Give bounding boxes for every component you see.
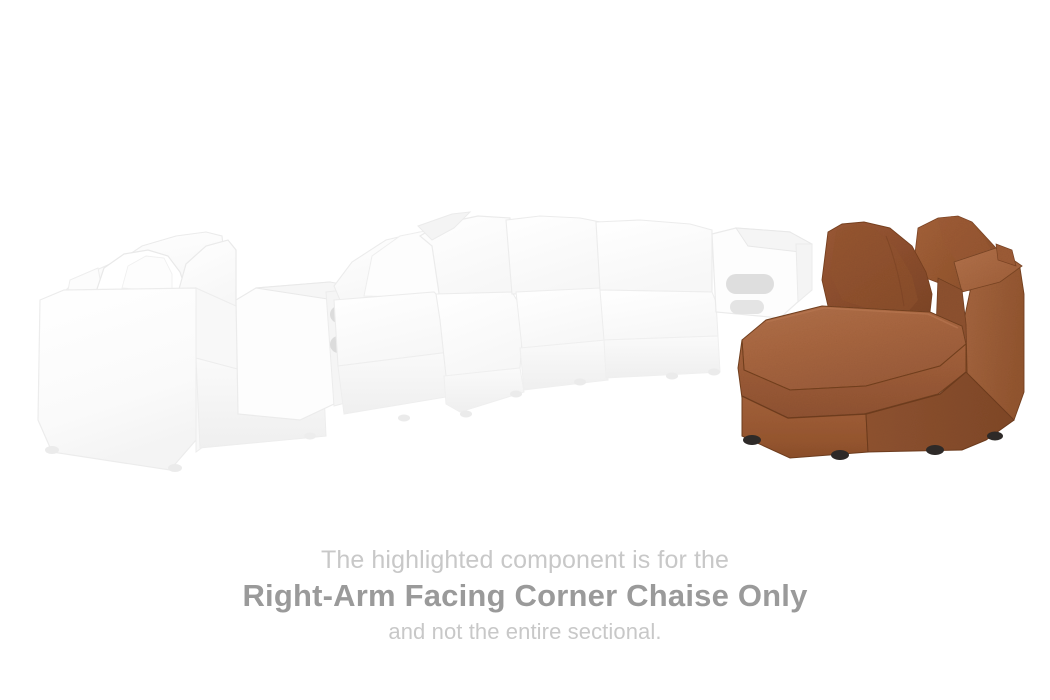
caption-line-2-component-name: Right-Arm Facing Corner Chaise Only (0, 575, 1050, 617)
ghost-base-corner (444, 368, 524, 412)
caption-block: The highlighted component is for the Rig… (0, 545, 1050, 647)
ghost-console-side-right (796, 244, 812, 302)
ghost-foot (398, 415, 410, 422)
ghost-seat-cushion-armless-right (600, 290, 718, 340)
caption-line-1: The highlighted component is for the (0, 545, 1050, 575)
ghost-sectional-group (38, 212, 812, 472)
ghost-foot (45, 446, 59, 454)
caption-line-3: and not the entire sectional. (0, 617, 1050, 647)
sectional-illustration-svg (0, 0, 1050, 520)
ghost-module-console-right (712, 228, 812, 318)
ghost-module-armless-mid (506, 216, 608, 390)
product-highlight-page: The highlighted component is for the Rig… (0, 0, 1050, 700)
ghost-back-cushion-armless-right (596, 220, 712, 292)
ghost-foot (574, 379, 586, 386)
chaise-back-cushion-shade (830, 224, 918, 312)
cup-holder-icon (730, 300, 764, 314)
ghost-seat-cushion-armless-mid (516, 288, 606, 348)
ghost-arm-left (38, 288, 200, 470)
ghost-foot (304, 433, 316, 440)
cup-holder-icon (726, 274, 774, 294)
ghost-back-cushion-armless-mid (506, 216, 600, 294)
chaise-back-cushion-group (822, 222, 932, 320)
ghost-seat-cushion-corner (436, 292, 524, 376)
chaise-foot (926, 445, 944, 455)
chaise-foot (831, 450, 849, 460)
ghost-base-armless-right (604, 336, 720, 378)
chaise-foot (987, 432, 1003, 441)
ghost-module-armless-right (596, 220, 720, 380)
ghost-foot (708, 369, 720, 376)
ghost-console-body-left (236, 282, 334, 420)
ghost-foot (168, 464, 182, 472)
ghost-foot (460, 411, 472, 418)
sectional-illustration (0, 0, 1050, 520)
ghost-foot (510, 391, 522, 398)
ghost-base-armless-mid (520, 340, 608, 390)
ghost-foot (666, 373, 678, 380)
chaise-foot (743, 435, 761, 445)
